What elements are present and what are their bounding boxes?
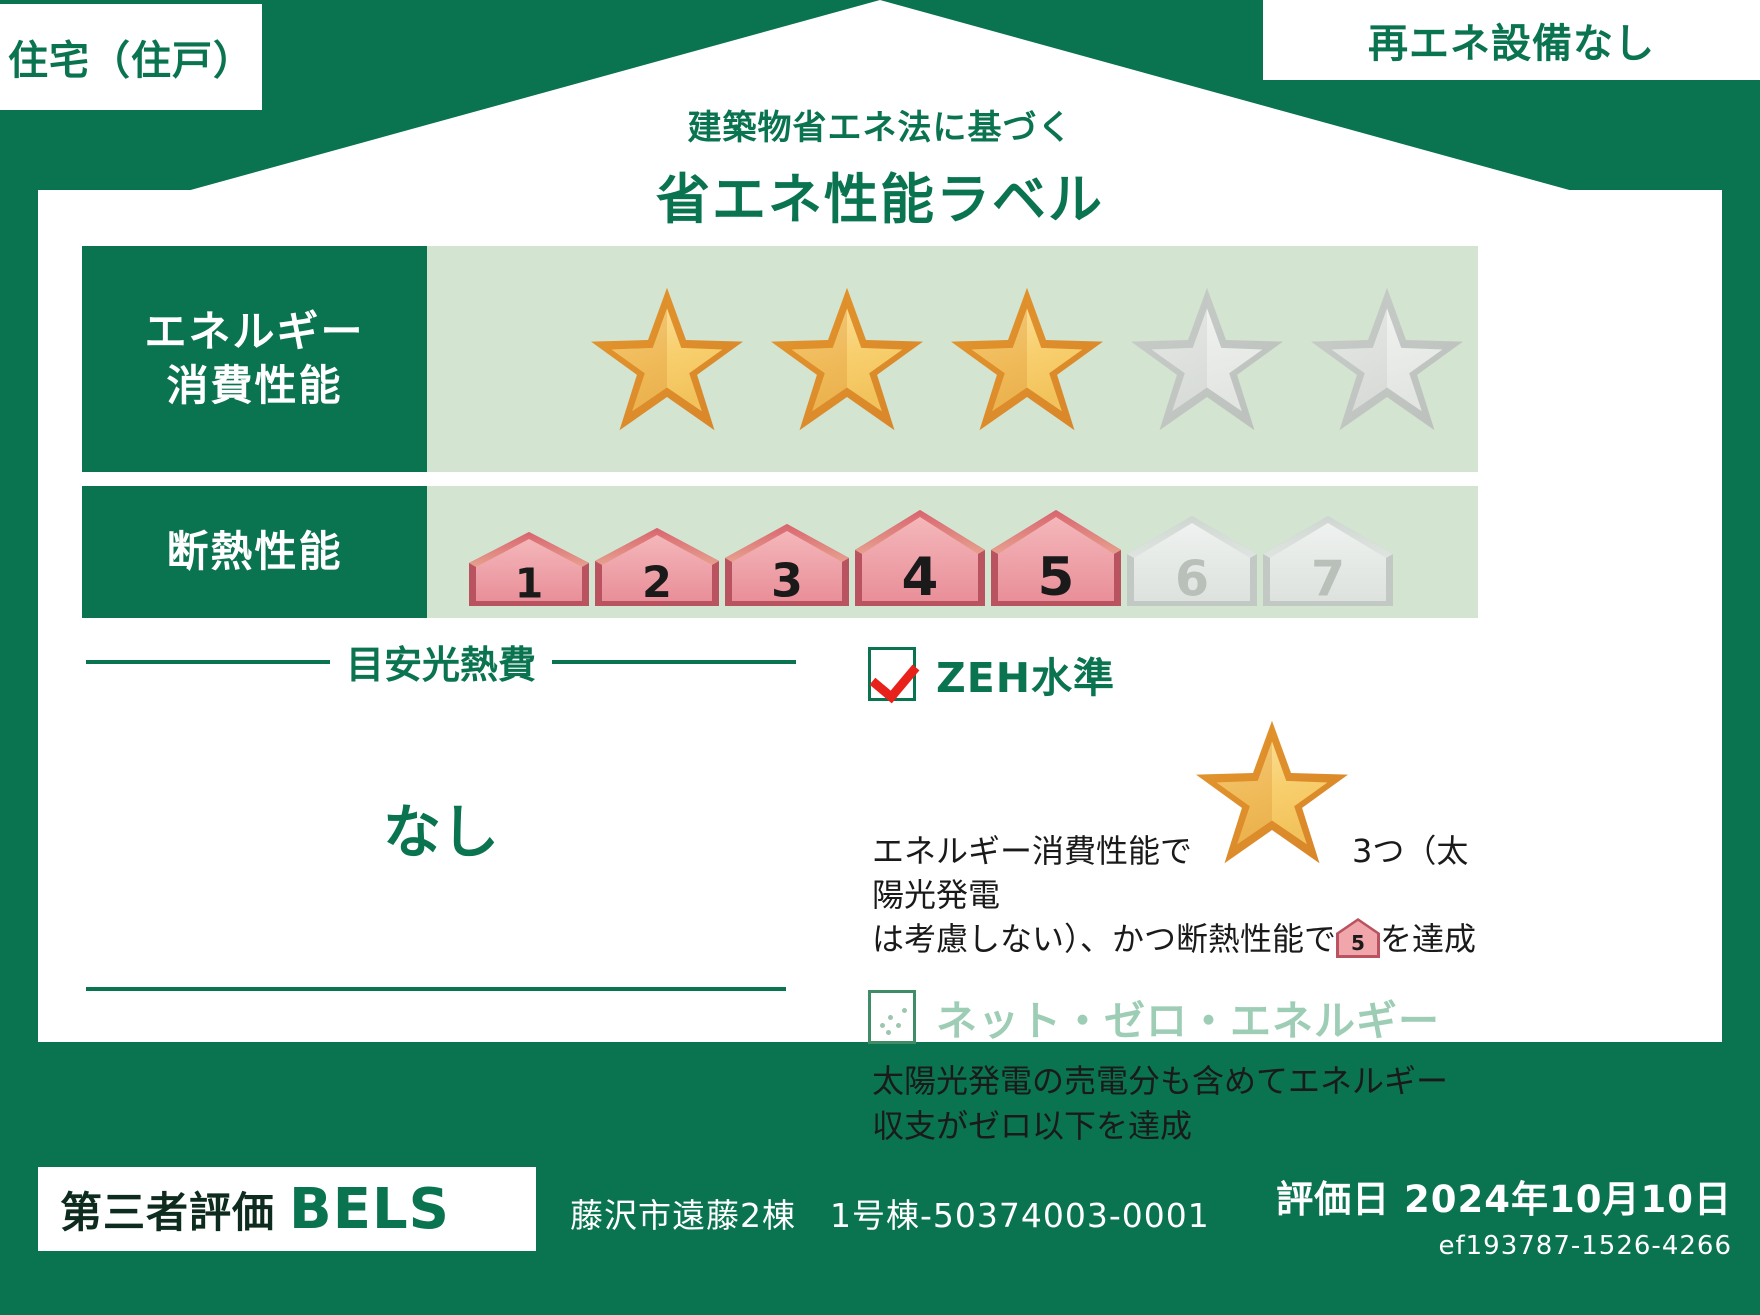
dotted-marks-icon <box>871 993 913 1041</box>
zeh-standard-label: ZEH水準 <box>936 644 1115 704</box>
zeh-netzero-desc-1: 太陽光発電の売電分も含めてエネルギー <box>872 1062 1448 1100</box>
svg-text:6: 6 <box>1175 551 1209 606</box>
footer-evaluation: 評価日 2024年10月10日 ef193787-1526-4266 <box>1276 1169 1732 1261</box>
title-subtitle: 建築物省エネ法に基づく <box>0 100 1760 149</box>
footer-id-text: ef193787-1526-4266 <box>1276 1231 1732 1261</box>
zeh-netzero-desc-2: 収支がゼロ以下を達成 <box>872 1107 1192 1145</box>
footer-address: 藤沢市遠藤2棟 1号棟-50374003-0001 <box>570 1189 1210 1237</box>
footer-date-text: 評価日 2024年10月10日 <box>1276 1169 1732 1223</box>
energy-label-line2: 消費性能 <box>166 359 342 413</box>
insulation-level-scale: 1 2 3 <box>469 486 1393 618</box>
zeh-block: ZEH水準 エネルギー消費性能で 3つ（太陽光発電 は考慮しない）、かつ断熱性能… <box>868 644 1488 1166</box>
bels-badge-en: BELS <box>289 1177 450 1242</box>
zeh-desc-2a: は考慮しない）、かつ断熱性能で <box>872 920 1336 958</box>
row-insulation-performance: 断熱性能 1 <box>82 486 1478 618</box>
insulation-house-7: 7 <box>1263 516 1393 606</box>
svg-text:2: 2 <box>642 558 672 606</box>
zeh-desc-2b: を達成 <box>1380 920 1476 958</box>
utility-cost-heading-text: 目安光熱費 <box>346 634 536 689</box>
zeh-standard-description: エネルギー消費性能で 3つ（太陽光発電 は考慮しない）、かつ断熱性能で 5 を達… <box>872 716 1488 969</box>
svg-text:5: 5 <box>1351 931 1365 955</box>
badge-renewable-status: 再エネ設備なし <box>1263 0 1760 80</box>
insulation-house-3: 3 <box>725 524 849 606</box>
mini-house-icon: 5 <box>1336 918 1380 969</box>
badge-building-type: 住宅（住戸） <box>0 4 262 110</box>
insulation-label-text: 断熱性能 <box>166 525 342 579</box>
svg-text:1: 1 <box>515 559 544 606</box>
heading-rule-left <box>86 660 330 664</box>
zeh-standard-checkbox-icon <box>868 647 916 701</box>
insulation-house-6: 6 <box>1127 516 1257 606</box>
energy-performance-value <box>427 246 1478 472</box>
insulation-performance-label: 断熱性能 <box>82 486 427 618</box>
mini-star-icon <box>1192 716 1352 868</box>
star-filled-icon <box>947 283 1107 435</box>
bels-badge: 第三者評価 BELS <box>38 1167 536 1251</box>
zeh-netzero-label: ネット・ゼロ・エネルギー <box>936 987 1440 1047</box>
row-energy-performance: エネルギー 消費性能 <box>82 246 1478 472</box>
zeh-netzero-description: 太陽光発電の売電分も含めてエネルギー 収支がゼロ以下を達成 <box>872 1059 1488 1147</box>
svg-text:5: 5 <box>1038 547 1075 606</box>
bels-label-card: 住宅（住戸） 再エネ設備なし 建築物省エネ法に基づく 省エネ性能ラベル エネルギ… <box>0 0 1760 1315</box>
utility-cost-value: なし <box>86 785 796 869</box>
svg-text:3: 3 <box>771 553 803 606</box>
svg-text:7: 7 <box>1311 551 1345 606</box>
zeh-desc-1a: エネルギー消費性能で <box>872 832 1192 870</box>
insulation-house-4: 4 <box>855 510 985 606</box>
zeh-netzero-row: ネット・ゼロ・エネルギー <box>868 987 1488 1047</box>
bels-badge-jp: 第三者評価 <box>60 1179 275 1240</box>
heading-rule-right <box>552 660 796 664</box>
insulation-performance-value: 1 2 3 <box>427 486 1478 618</box>
energy-label-line1: エネルギー <box>144 305 364 359</box>
star-empty-icon <box>1307 283 1467 435</box>
utility-cost-bottom-rule <box>86 987 786 991</box>
title-main: 省エネ性能ラベル <box>0 155 1760 234</box>
energy-performance-label: エネルギー 消費性能 <box>82 246 427 472</box>
utility-cost-block: 目安光熱費 なし <box>86 634 796 991</box>
label-title: 建築物省エネ法に基づく 省エネ性能ラベル <box>0 100 1760 234</box>
footer: 第三者評価 BELS 藤沢市遠藤2棟 1号棟-50374003-0001 評価日… <box>0 1155 1760 1315</box>
svg-text:4: 4 <box>902 547 939 606</box>
insulation-house-5: 5 <box>991 510 1121 606</box>
star-filled-icon <box>767 283 927 435</box>
utility-cost-heading: 目安光熱費 <box>86 634 796 689</box>
star-empty-icon <box>1127 283 1287 435</box>
star-filled-icon <box>587 283 747 435</box>
zeh-netzero-checkbox-icon <box>868 990 916 1044</box>
insulation-house-1: 1 <box>469 532 589 606</box>
star-rating <box>587 283 1467 435</box>
zeh-standard-row: ZEH水準 <box>868 644 1488 704</box>
insulation-house-2: 2 <box>595 528 719 606</box>
